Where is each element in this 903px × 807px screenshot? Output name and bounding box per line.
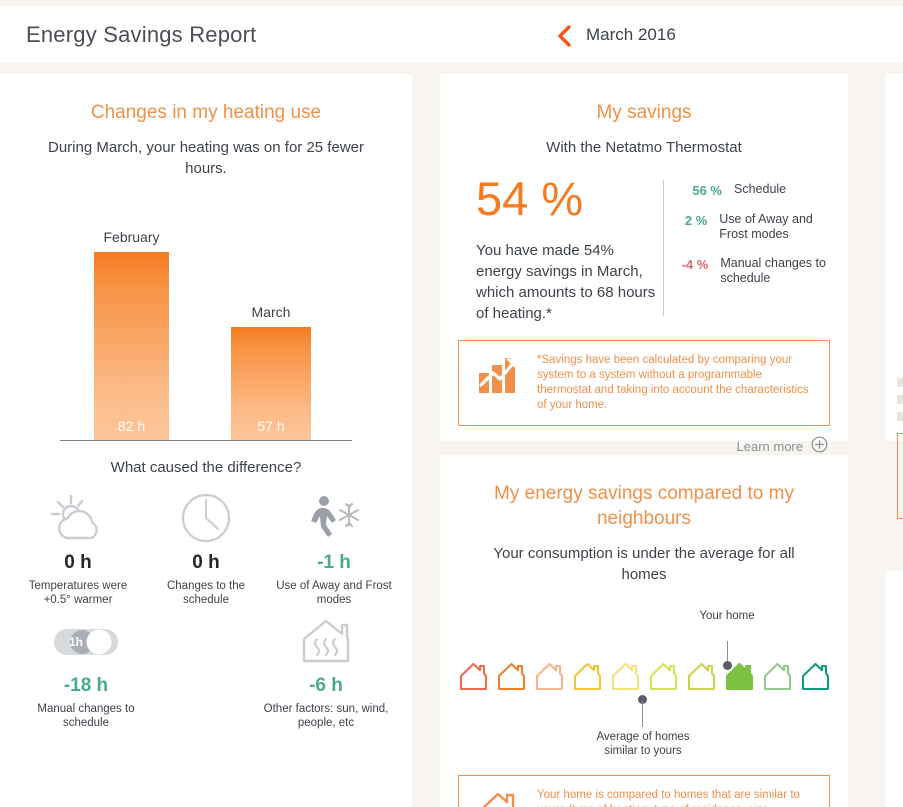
neighbours-footnote-text: Your home is compared to homes that are … — [537, 788, 815, 807]
energy-savings-report-page: Energy Savings Report March 2016 Changes… — [0, 0, 903, 807]
cause-question: What caused the difference? — [0, 459, 412, 476]
breakdown-percent: 2 % — [678, 212, 707, 228]
house-heat-icon — [254, 613, 398, 669]
factor-manual-changes[interactable]: 1h -18 h Manual changes to schedule — [14, 613, 158, 730]
current-period-label: March 2016 — [586, 25, 676, 45]
factor-temperature-desc: Temperatures were +0.5° warmer — [16, 579, 140, 607]
factor-temperature-value: 0 h — [16, 552, 140, 574]
savings-big-percent: 54 % — [476, 172, 663, 226]
house-icon — [459, 661, 488, 696]
breakdown-label: Schedule — [734, 182, 786, 197]
bar-february: February 82 h — [94, 252, 169, 440]
chart-baseline — [60, 440, 352, 441]
bar-chart-arrow-icon — [477, 353, 521, 400]
house-icon — [497, 661, 526, 696]
factor-schedule-value: 0 h — [144, 552, 268, 574]
house-icon — [801, 661, 830, 696]
learn-more-label: Learn more — [737, 439, 803, 454]
house-outline-icon — [477, 788, 521, 807]
savings-footnote-box: *Savings have been calculated by compari… — [458, 340, 830, 426]
house-icon — [611, 661, 640, 696]
houses-row — [440, 661, 848, 696]
third-column-text-line — [897, 378, 903, 387]
factor-manual-desc: Manual changes to schedule — [14, 702, 158, 730]
breakdown-row: -4 % Manual changes to schedule — [678, 256, 830, 286]
factor-schedule-changes[interactable]: 0 h Changes to the schedule — [144, 490, 268, 607]
your-home-label: Your home — [692, 609, 762, 623]
factor-temperature[interactable]: 0 h Temperatures were +0.5° warmer — [16, 490, 140, 607]
learn-more-link[interactable]: Learn more — [460, 436, 828, 456]
factor-away-frost-desc: Use of Away and Frost modes — [272, 579, 396, 607]
house-icon — [687, 661, 716, 696]
svg-text:1h: 1h — [69, 635, 83, 649]
third-column-text-line — [897, 412, 903, 421]
third-column-panel-top — [885, 74, 903, 441]
bar-february-value: 82 h — [94, 418, 169, 434]
app-header: Energy Savings Report March 2016 — [0, 6, 903, 63]
savings-panel-subtitle: With the Netatmo Thermostat — [440, 137, 848, 158]
house-icon — [763, 661, 792, 696]
average-leader-line — [642, 701, 643, 727]
houses-scale-chart: Your home Average of homes similar to yo… — [440, 611, 848, 761]
breakdown-percent: 56 % — [678, 182, 722, 198]
factor-away-frost[interactable]: -1 h Use of Away and Frost modes — [272, 490, 396, 607]
heating-panel-title: Changes in my heating use — [0, 100, 412, 125]
neighbours-panel-subtitle: Your consumption is under the average fo… — [470, 543, 818, 585]
bar-february-label: February — [94, 229, 169, 245]
savings-footnote-text: *Savings have been calculated by compari… — [537, 353, 815, 413]
page-title: Energy Savings Report — [26, 22, 256, 48]
my-savings-panel: My savings With the Netatmo Thermostat 5… — [440, 74, 848, 441]
bar-march: March 57 h — [231, 327, 311, 440]
bar-march-value: 57 h — [231, 418, 311, 434]
third-column-info-box — [897, 433, 903, 519]
savings-breakdown-list: 56 % Schedule 2 % Use of Away and Frost … — [678, 172, 830, 324]
factor-row-primary: 0 h Temperatures were +0.5° warmer 0 h C… — [0, 490, 412, 607]
toggle-1h-icon: 1h — [14, 613, 158, 669]
breakdown-row: 56 % Schedule — [678, 182, 830, 198]
third-column-text-line — [897, 395, 903, 404]
average-label: Average of homes similar to yours — [583, 730, 703, 758]
heating-panel-subtitle: During March, your heating was on for 25… — [28, 137, 384, 179]
factor-other-value: -6 h — [254, 675, 398, 697]
savings-main: 54 % You have made 54% energy savings in… — [440, 172, 848, 324]
away-frost-icon — [272, 490, 396, 546]
sun-cloud-icon — [16, 490, 140, 546]
plus-circle-icon[interactable] — [811, 436, 828, 456]
savings-summary: 54 % You have made 54% energy savings in… — [458, 172, 663, 324]
factor-schedule-desc: Changes to the schedule — [144, 579, 268, 607]
bar-march-label: March — [231, 304, 311, 320]
neighbours-comparison-panel: My energy savings compared to my neighbo… — [440, 455, 848, 807]
breakdown-row: 2 % Use of Away and Frost modes — [678, 212, 830, 242]
heating-bar-chart: February 82 h March 57 h — [56, 201, 356, 441]
factor-away-frost-value: -1 h — [272, 552, 396, 574]
bar-february-rect: 82 h — [94, 252, 169, 440]
period-navigator: March 2016 — [556, 24, 676, 46]
factor-manual-value: -18 h — [14, 675, 158, 697]
breakdown-percent: -4 % — [678, 256, 708, 272]
house-icon — [573, 661, 602, 696]
neighbours-panel-title: My energy savings compared to my neighbo… — [480, 481, 808, 531]
house-icon — [649, 661, 678, 696]
your-home-marker-dot — [723, 661, 732, 670]
third-column-panel-bottom — [885, 571, 903, 807]
chevron-left-icon[interactable] — [556, 24, 572, 46]
breakdown-label: Manual changes to schedule — [720, 256, 830, 286]
clock-icon — [144, 490, 268, 546]
savings-panel-title: My savings — [440, 100, 848, 125]
factor-row-secondary: 1h -18 h Manual changes to schedule — [0, 613, 412, 730]
neighbours-footnote-box: Your home is compared to homes that are … — [458, 775, 830, 807]
breakdown-label: Use of Away and Frost modes — [719, 212, 830, 242]
factor-other[interactable]: -6 h Other factors: sun, wind, people, e… — [254, 613, 398, 730]
heating-use-panel: Changes in my heating use During March, … — [0, 74, 412, 807]
house-icon — [535, 661, 564, 696]
savings-description: You have made 54% energy savings in Marc… — [476, 240, 663, 324]
savings-divider — [663, 180, 664, 316]
bar-march-rect: 57 h — [231, 327, 311, 440]
factor-other-desc: Other factors: sun, wind, people, etc — [254, 702, 398, 730]
